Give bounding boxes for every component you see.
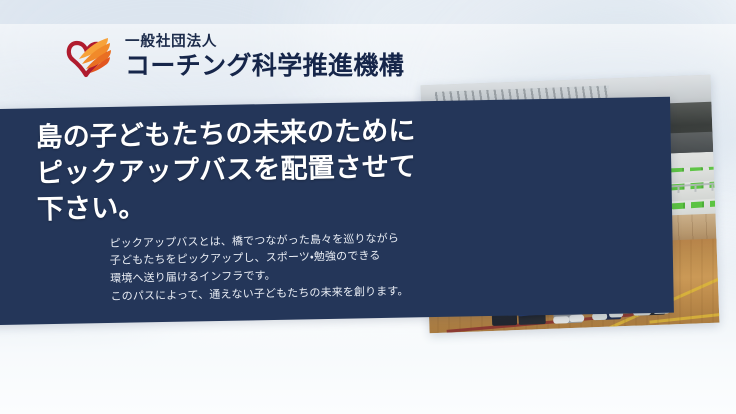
headline-line: ピックアップバスを配置させて xyxy=(36,148,422,191)
logo-text: 一般社団法人 コーチング科学推進機構 xyxy=(125,35,404,79)
child-shoe xyxy=(569,314,585,322)
body-description: ピックアップバスとは、橋でつながった島々を巡りながら 子どもたちをピックアップし… xyxy=(109,230,423,307)
text-panel-content: 島の子どもたちの未来のために ピックアップバスを配置させて 下さい。 ピックアッ… xyxy=(35,112,423,308)
page-title: 島の子どもたちの未来のために ピックアップバスを配置させて 下さい。 xyxy=(35,112,422,228)
organization-logo: 一般社団法人 コーチング科学推進機構 xyxy=(64,31,404,83)
winged-heart-logo-icon xyxy=(64,31,116,83)
organization-type: 一般社団法人 xyxy=(125,35,404,50)
headline-line: 下さい。 xyxy=(37,185,423,228)
text-panel: 島の子どもたちの未来のために ピックアップバスを配置させて 下さい。 ピックアッ… xyxy=(0,97,674,326)
campaign-slide: 一般社団法人 コーチング科学推進機構 xyxy=(0,0,736,414)
child-shoe xyxy=(553,316,569,324)
organization-name: コーチング科学推進機構 xyxy=(125,54,404,79)
